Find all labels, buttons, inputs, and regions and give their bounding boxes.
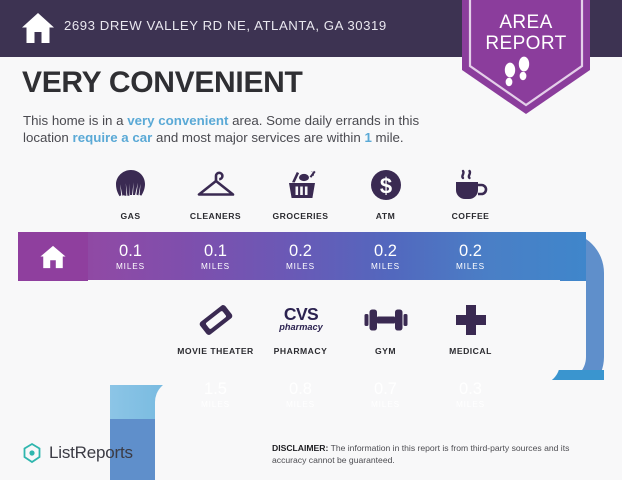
desc-part-3: and most major services are within (152, 130, 364, 145)
badge-line-2: REPORT (462, 33, 590, 54)
distance-cell-cleaners: 0.1MILES (173, 232, 258, 281)
poi-label: GYM (375, 346, 396, 356)
distance-unit: MILES (371, 262, 400, 271)
medical-cross-icon (454, 300, 488, 340)
distance-cell-pharmacy: 0.8MILES (258, 370, 343, 419)
area-report-badge: AREA REPORT (462, 0, 590, 116)
disclaimer: DISCLAIMER: The information in this repo… (272, 443, 590, 466)
distance-value: 0.2 (289, 243, 312, 260)
desc-highlight-3: 1 (364, 130, 371, 145)
poi-label: MOVIE THEATER (177, 346, 254, 356)
distance-unit: MILES (201, 400, 230, 409)
row1-icon-strip: GASCLEANERSGROCERIES$ATMCOFFEE (88, 165, 513, 221)
dumbbell-icon (364, 300, 408, 340)
distance-cell-groceries: 0.2MILES (258, 232, 343, 281)
hanger-icon (196, 165, 236, 205)
poi-label: MEDICAL (449, 346, 492, 356)
desc-highlight-1: very convenient (127, 113, 228, 128)
poi-coffee: COFFEE (428, 165, 513, 221)
poi-label: GROCERIES (272, 211, 328, 221)
disclaimer-label: DISCLAIMER: (272, 443, 328, 453)
page-title: VERY CONVENIENT (22, 66, 303, 100)
distance-cell-gas: 0.1MILES (88, 232, 173, 281)
coffee-cup-icon (452, 165, 490, 205)
cvs-pharmacy-icon: CVSpharmacy (272, 300, 330, 340)
desc-part-4: mile. (372, 130, 404, 145)
row2-icon-strip: MOVIE THEATERCVSpharmacyPHARMACYGYMMEDIC… (173, 300, 513, 356)
svg-text:CVS: CVS (283, 304, 317, 324)
poi-groceries: GROCERIES (258, 165, 343, 221)
distance-value: 0.7 (374, 381, 397, 398)
svg-text:pharmacy: pharmacy (278, 322, 323, 332)
home-icon (39, 244, 67, 270)
property-address: 2693 DREW VALLEY RD NE, ATLANTA, GA 3031… (64, 18, 387, 33)
poi-atm: $ATM (343, 165, 428, 221)
poi-label: CLEANERS (190, 211, 241, 221)
grocery-basket-icon (283, 165, 319, 205)
distance-value: 0.2 (459, 243, 482, 260)
poi-gas: GAS (88, 165, 173, 221)
distance-value: 0.2 (374, 243, 397, 260)
poi-label: GAS (120, 211, 140, 221)
shell-gas-icon (114, 165, 148, 205)
poi-label: ATM (376, 211, 395, 221)
distance-unit: MILES (201, 262, 230, 271)
badge-line-1: AREA (462, 12, 590, 33)
poi-cleaners: CLEANERS (173, 165, 258, 221)
distance-unit: MILES (456, 262, 485, 271)
distance-cell-movie-theater: 1.5MILES (173, 370, 258, 419)
listreports-logo: ListReports (22, 442, 133, 464)
page-description: This home is in a very convenient area. … (23, 112, 443, 146)
logo-text: ListReports (49, 443, 133, 463)
badge-label: AREA REPORT (462, 12, 590, 54)
distance-value: 0.8 (289, 381, 312, 398)
distance-cell-medical: 0.3MILES (428, 370, 513, 419)
distance-unit: MILES (456, 400, 485, 409)
poi-label: COFFEE (452, 211, 490, 221)
distance-unit: MILES (371, 400, 400, 409)
listreports-logo-icon (22, 442, 42, 464)
distance-value: 1.5 (204, 381, 227, 398)
poi-medical: MEDICAL (428, 300, 513, 356)
distance-cell-gym: 0.7MILES (343, 370, 428, 419)
desc-highlight-2: require a car (73, 130, 153, 145)
movie-ticket-icon (197, 300, 235, 340)
dollar-coin-icon: $ (369, 165, 403, 205)
poi-movie-theater: MOVIE THEATER (173, 300, 258, 356)
distance-unit: MILES (116, 262, 145, 271)
distance-cell-atm: 0.2MILES (343, 232, 428, 281)
poi-gym: GYM (343, 300, 428, 356)
area-report-page: 2693 DREW VALLEY RD NE, ATLANTA, GA 3031… (0, 0, 622, 480)
distance-value: 0.1 (204, 243, 227, 260)
distance-unit: MILES (286, 262, 315, 271)
poi-pharmacy: CVSpharmacyPHARMACY (258, 300, 343, 356)
distance-value: 0.3 (459, 381, 482, 398)
home-marker-cell (18, 232, 88, 281)
distance-cell-coffee: 0.2MILES (428, 232, 513, 281)
distance-value: 0.1 (119, 243, 142, 260)
distance-unit: MILES (286, 400, 315, 409)
poi-label: PHARMACY (274, 346, 328, 356)
desc-part-1: This home is in a (23, 113, 127, 128)
home-icon (20, 11, 56, 45)
svg-text:$: $ (379, 173, 391, 198)
